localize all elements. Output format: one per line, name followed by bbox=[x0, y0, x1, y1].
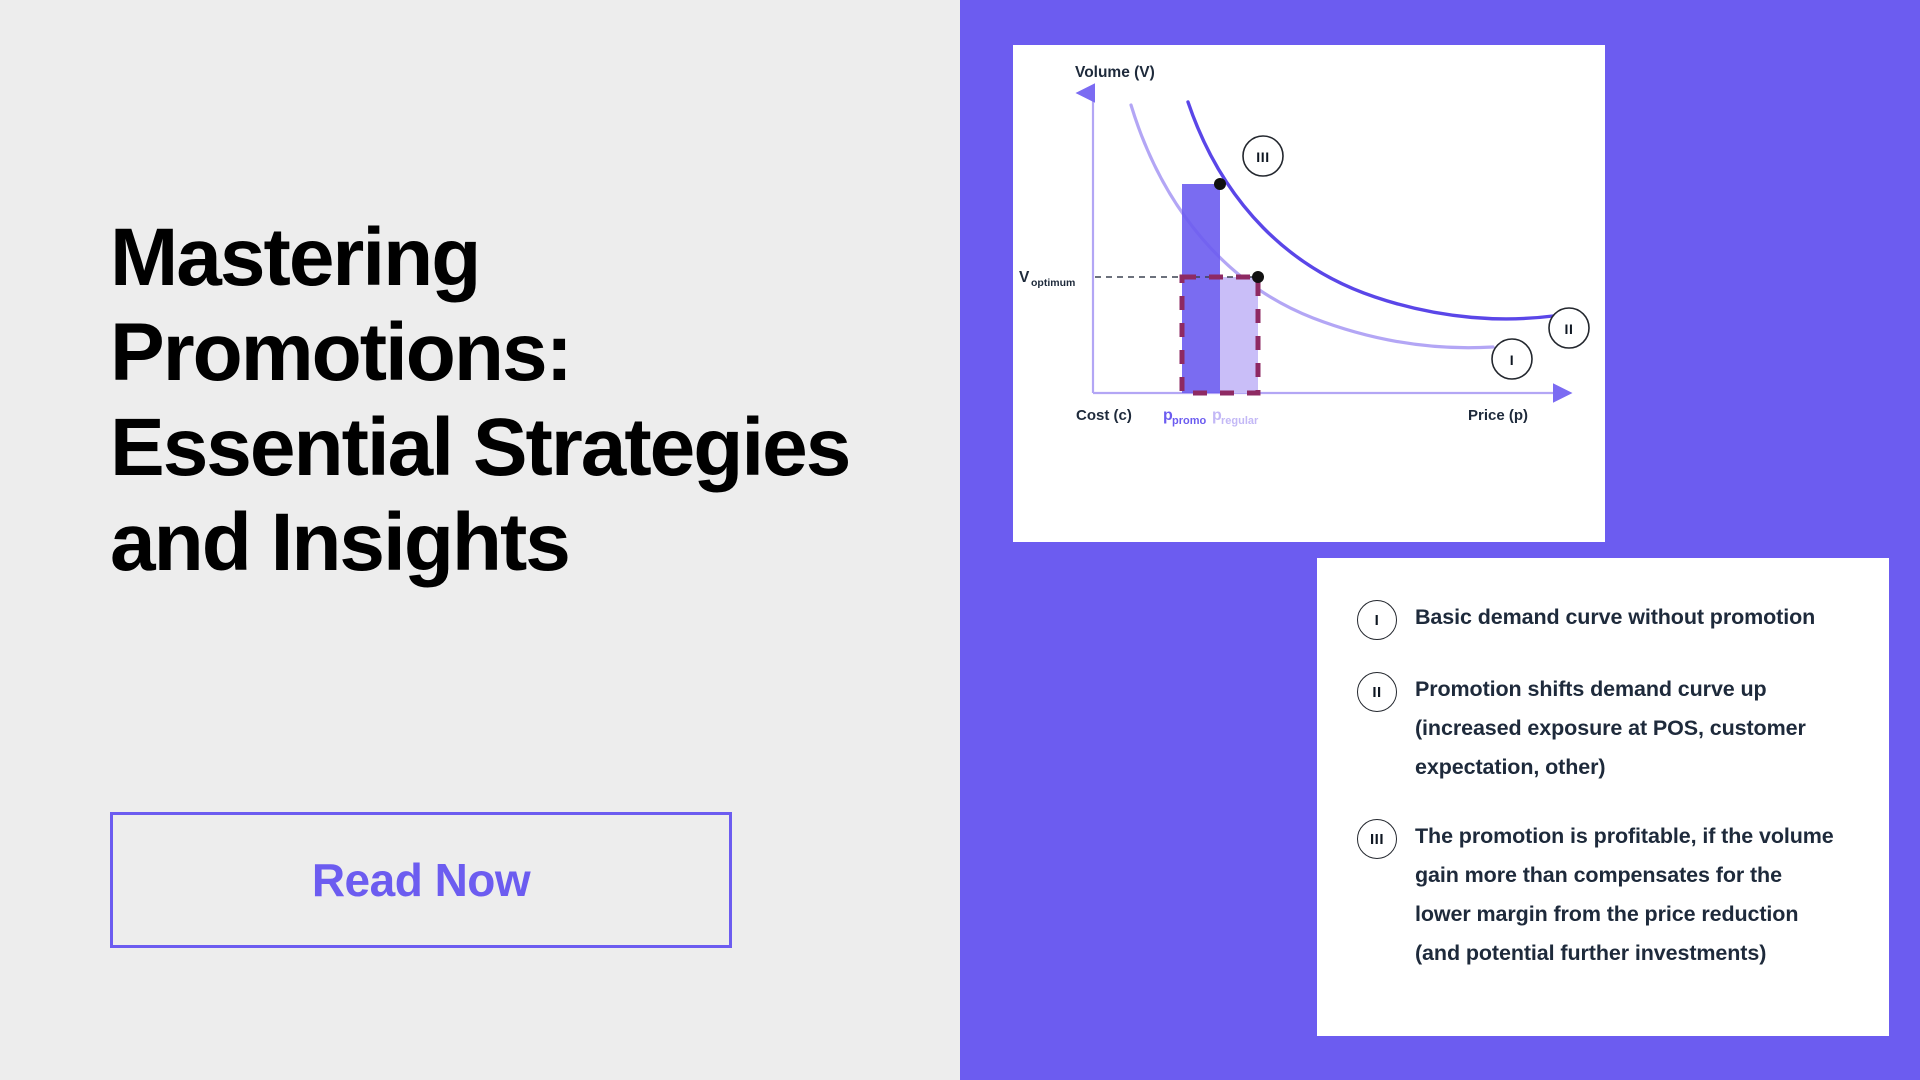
legend-badge-iii: III bbox=[1357, 819, 1397, 859]
legend-item-i: I Basic demand curve without promotion bbox=[1357, 598, 1843, 640]
legend-card: I Basic demand curve without promotion I… bbox=[1317, 558, 1889, 1036]
badge-iii-label: III bbox=[1256, 149, 1269, 165]
legend-item-iii: III The promotion is profitable, if the … bbox=[1357, 817, 1843, 973]
demand-curve-chart: Volume (V) V optimum III I bbox=[1013, 45, 1605, 542]
read-now-button-label: Read Now bbox=[312, 853, 530, 907]
promo-volume-bar bbox=[1182, 184, 1220, 393]
x-tick-regular-label-sub: regular bbox=[1221, 415, 1259, 427]
legend-item-ii: II Promotion shifts demand curve up (inc… bbox=[1357, 670, 1843, 787]
read-now-button[interactable]: Read Now bbox=[110, 812, 732, 948]
regular-volume-bar bbox=[1220, 277, 1258, 393]
badge-i-label: I bbox=[1510, 352, 1515, 368]
left-hero-panel: Mastering Promotions: Essential Strategi… bbox=[0, 0, 960, 1080]
y-axis-title: Volume (V) bbox=[1075, 64, 1155, 81]
page-title: Mastering Promotions: Essential Strategi… bbox=[110, 210, 850, 590]
v-optimum-label: V bbox=[1019, 269, 1030, 286]
x-origin-label: Cost (c) bbox=[1076, 407, 1132, 424]
legend-text-iii: The promotion is profitable, if the volu… bbox=[1415, 817, 1843, 973]
marker-iii-point bbox=[1214, 178, 1226, 190]
slide-canvas: Mastering Promotions: Essential Strategi… bbox=[0, 0, 1920, 1080]
marker-optimum-point bbox=[1252, 271, 1264, 283]
legend-text-i: Basic demand curve without promotion bbox=[1415, 598, 1815, 637]
demand-curve-chart-card: Volume (V) V optimum III I bbox=[1013, 45, 1605, 542]
x-axis-title: Price (p) bbox=[1468, 407, 1528, 424]
legend-badge-i: I bbox=[1357, 600, 1397, 640]
legend-text-ii: Promotion shifts demand curve up (increa… bbox=[1415, 670, 1843, 787]
v-optimum-label-sub: optimum bbox=[1031, 277, 1075, 289]
badge-ii-label: II bbox=[1565, 321, 1574, 337]
x-tick-promo-label-sub: promo bbox=[1172, 415, 1207, 427]
legend-badge-ii: II bbox=[1357, 672, 1397, 712]
